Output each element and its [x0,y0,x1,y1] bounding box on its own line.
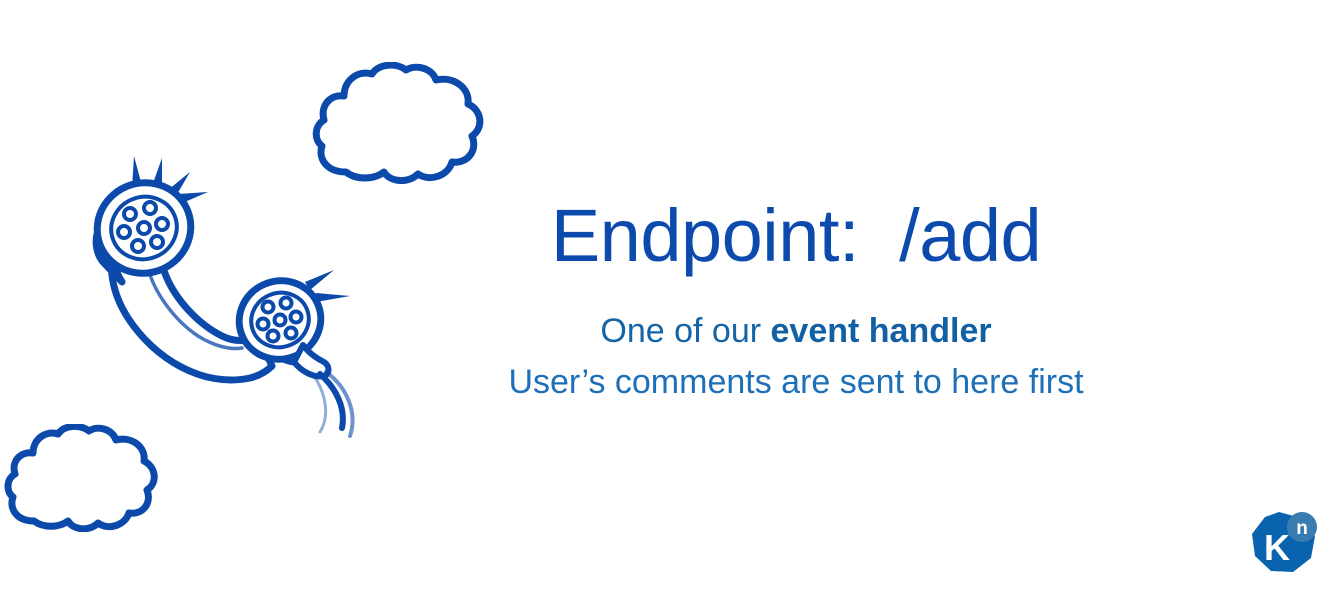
cloud-top-decoration [312,62,488,184]
subtitle-line-1-prefix: One of our [600,312,770,350]
logo-letter-n: n [1296,518,1308,539]
logo-letter-k: K [1264,527,1290,568]
telephone-handset-decoration [62,140,382,460]
ringing-telephone-handset-icon [62,140,382,460]
slide-text-block: Endpoint: /add One of our event handler … [440,196,1152,405]
subtitle-line-2: User’s comments are sent to here first [440,361,1152,405]
page-title: Endpoint: /add [440,196,1152,276]
knowledge-heptagon-logo-icon: K n [1247,508,1321,582]
cloud-outline-icon [4,424,160,532]
brand-logo: K n [1247,508,1321,582]
subtitle-line-1-emphasis: event handler [771,312,992,350]
slide-canvas: Endpoint: /add One of our event handler … [0,0,1343,595]
cloud-outline-icon [312,62,488,184]
subtitle-line-1: One of our event handler [440,310,1152,354]
cloud-bottom-decoration [4,424,160,532]
